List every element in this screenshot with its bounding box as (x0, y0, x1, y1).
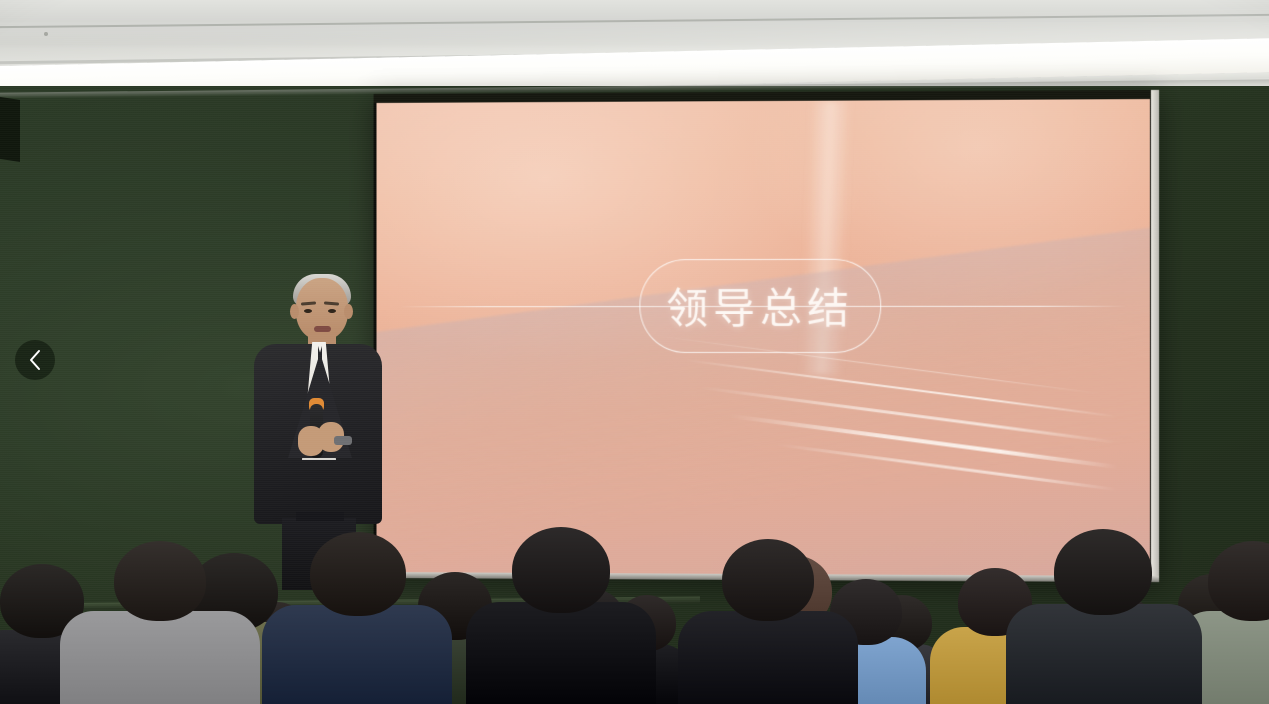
attendee-black-suit-c (466, 539, 656, 704)
chevron-left-icon (28, 349, 43, 371)
slide-title-pill: 领导总结 (639, 259, 881, 353)
attendee-dark-mid (678, 554, 858, 704)
audience (0, 444, 1269, 704)
attendee-grey-blazer (60, 554, 260, 704)
attendee-body (1006, 604, 1202, 704)
attendee-charcoal-r (1006, 542, 1202, 704)
attendee-head (114, 541, 206, 621)
attendee-head (1208, 541, 1269, 621)
attendee-head (1054, 529, 1152, 615)
attendee-head (310, 532, 406, 616)
attendee-head (512, 527, 610, 613)
attendee-body (678, 611, 858, 704)
ceiling-soffit (0, 0, 1269, 22)
presenter-ear (344, 304, 353, 319)
attendee-head (722, 539, 814, 621)
attendee-navy-suit (262, 544, 452, 704)
attendee-body (262, 605, 452, 704)
presenter-eye (328, 309, 336, 313)
presenter-eye (304, 309, 312, 313)
attendee-body (60, 611, 260, 704)
attendee-body (466, 602, 656, 704)
previous-image-button[interactable] (15, 340, 55, 380)
wall-speaker-box (0, 96, 20, 162)
ceiling-screw-icon (44, 32, 48, 36)
presenter-ear (290, 304, 299, 319)
presenter-mouth (314, 326, 331, 332)
slide-title-text: 领导总结 (666, 275, 854, 336)
presentation-photo: 领导总结 伟 (0, 0, 1269, 704)
